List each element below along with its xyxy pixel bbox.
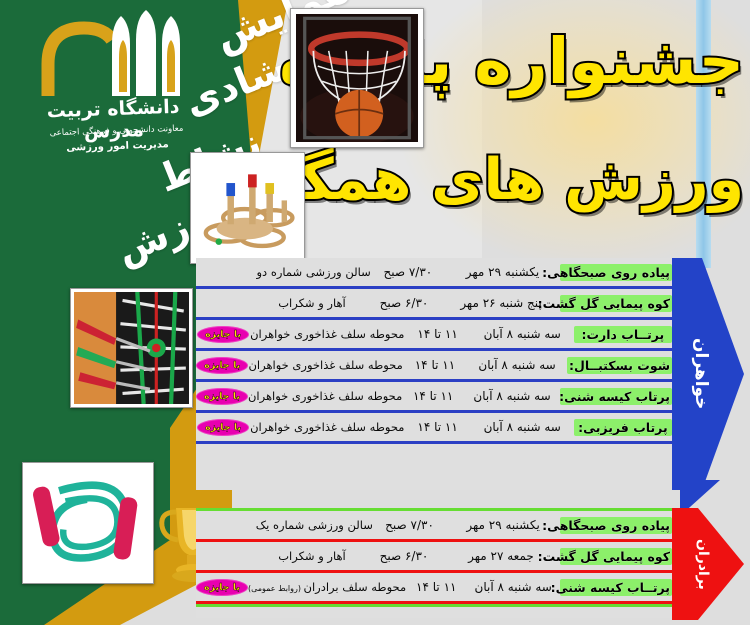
table-row: کوه پیمایی گل گشت:پنج شنبه ۲۶ مهر۶/۳۰ صب…	[196, 289, 676, 317]
prize-badge-cell	[196, 269, 256, 275]
event-date-cell: سه شنبه ۸ آبان	[471, 420, 574, 434]
university-logo: دانشگاه تربیت مدرس معاونت دانشجویی و فره…	[20, 10, 205, 170]
prize-badge-cell	[196, 522, 256, 528]
event-venue-cell: سالن ورزشی شماره دو	[256, 265, 370, 279]
event-date-cell: سه شنبه ۸ آبان	[464, 389, 560, 403]
table-row: کوه پیمایی گل گشت:جمعه ۲۷ مهر۶/۳۰ صبحآها…	[196, 542, 676, 570]
men-section-label: برادران	[695, 539, 711, 590]
prize-badge-cell: با جایزه	[196, 579, 248, 596]
ring-toss-photo	[190, 152, 305, 264]
event-time-cell: ۱۱ تا ۱۴	[404, 420, 470, 434]
status-badge: با جایزه	[196, 579, 248, 596]
event-name-cell: پرتاب کیسه شنی:	[560, 388, 672, 405]
event-date-cell: سه شنبه ۸ آبان	[466, 580, 560, 594]
event-name-cell: پرتــاب کیسه شنی:	[560, 579, 672, 596]
event-venue-note: (روابط عمومی)	[248, 584, 304, 593]
event-time-cell: ۱۱ تا ۱۴	[406, 580, 466, 594]
event-venue-cell: محوطه سلف برادران (روابط عمومی)	[248, 580, 406, 594]
row-divider	[196, 441, 676, 444]
prize-badge-cell: با جایزه	[196, 419, 250, 436]
event-time-cell: ۶/۳۰ صبح	[366, 296, 442, 310]
event-date-cell: پنج شنبه ۲۶ مهر	[442, 296, 560, 310]
status-badge: با جایزه	[196, 388, 248, 405]
prize-badge-cell: با جایزه	[196, 326, 250, 343]
event-name-cell: پرتــاب دارت:	[574, 326, 672, 343]
table-row: پرتاب فریزبی:سه شنبه ۸ آبان۱۱ تا ۱۴محوطه…	[196, 413, 676, 441]
event-time-cell: ۷/۳۰ صبح	[373, 518, 446, 532]
event-venue-cell: سالن ورزشی شماره یک	[256, 518, 373, 532]
prize-badge-cell: با جایزه	[196, 388, 248, 405]
event-name-cell: کوه پیمایی گل گشت:	[560, 295, 672, 312]
basketball-hoop-photo	[290, 8, 424, 148]
schedule-table-women: پیاده روی صبحگاهی:یکشنبه ۲۹ مهر۷/۳۰ صبحس…	[196, 258, 676, 490]
jump-rope-photo	[22, 462, 154, 584]
prize-badge-cell	[196, 300, 258, 306]
event-name-cell: پیاده روی صبحگاهی:	[560, 517, 672, 534]
table-row: پیاده روی صبحگاهی:یکشنبه ۲۹ مهر۷/۳۰ صبحس…	[196, 258, 676, 286]
status-badge: با جایزه	[197, 419, 249, 436]
event-venue-cell: آهار و شکراب	[258, 549, 366, 563]
event-time-cell: ۱۱ تا ۱۴	[402, 389, 464, 403]
schedule-table-men: پیاده روی صبحگاهی:یکشنبه ۲۹ مهر۷/۳۰ صبحس…	[196, 508, 676, 618]
table-row: پرتــاب کیسه شنی:سه شنبه ۸ آبان۱۱ تا ۱۴م…	[196, 573, 676, 601]
event-name-cell: کوه پیمایی گل گشت:	[560, 548, 672, 565]
event-time-cell: ۱۱ تا ۱۴	[404, 327, 470, 341]
event-date-cell: جمعه ۲۷ مهر	[442, 549, 560, 563]
event-venue-cell: محوطه سلف غذاخوری خواهران	[248, 358, 402, 372]
row-divider	[196, 604, 676, 607]
event-venue-cell: محوطه سلف غذاخوری خواهران	[248, 389, 402, 403]
event-time-cell: ۷/۳۰ صبح	[371, 265, 445, 279]
dartboard-photo	[70, 288, 193, 408]
event-name-cell: شوت بسکتبــال:	[567, 357, 672, 374]
women-section-label: خواهران	[691, 338, 711, 409]
table-row: پیاده روی صبحگاهی:یکشنبه ۲۹ مهر۷/۳۰ صبحس…	[196, 511, 676, 539]
poster-root: دانشگاه تربیت مدرس معاونت دانشجویی و فره…	[0, 0, 750, 625]
table-row: شوت بسکتبــال:سه شنبه ۸ آبان۱۱ تا ۱۴محوط…	[196, 351, 676, 379]
event-name-cell: پرتاب فریزبی:	[574, 419, 672, 436]
event-date-cell: یکشنبه ۲۹ مهر	[446, 518, 560, 532]
event-venue-cell: محوطه سلف غذاخوری خواهران	[250, 420, 404, 434]
event-venue-cell: آهار و شکراب	[258, 296, 366, 310]
event-date-cell: یکشنبه ۲۹ مهر	[445, 265, 560, 279]
event-date-cell: سه شنبه ۸ آبان	[467, 358, 567, 372]
prize-badge-cell: با جایزه	[196, 357, 248, 374]
tulip-arch-icon	[20, 10, 205, 102]
status-badge: با جایزه	[196, 357, 248, 374]
table-row: پرتاب کیسه شنی:سه شنبه ۸ آبان۱۱ تا ۱۴محو…	[196, 382, 676, 410]
event-venue-cell: محوطه سلف غذاخوری خواهران	[250, 327, 404, 341]
event-name-cell: پیاده روی صبحگاهی:	[560, 264, 672, 281]
event-time-cell: ۱۱ تا ۱۴	[403, 358, 467, 372]
status-badge: با جایزه	[197, 326, 249, 343]
prize-badge-cell	[196, 553, 258, 559]
event-time-cell: ۶/۳۰ صبح	[366, 549, 442, 563]
table-row: پرتــاب دارت:سه شنبه ۸ آبان۱۱ تا ۱۴محوطه…	[196, 320, 676, 348]
event-date-cell: سه شنبه ۸ آبان	[471, 327, 574, 341]
